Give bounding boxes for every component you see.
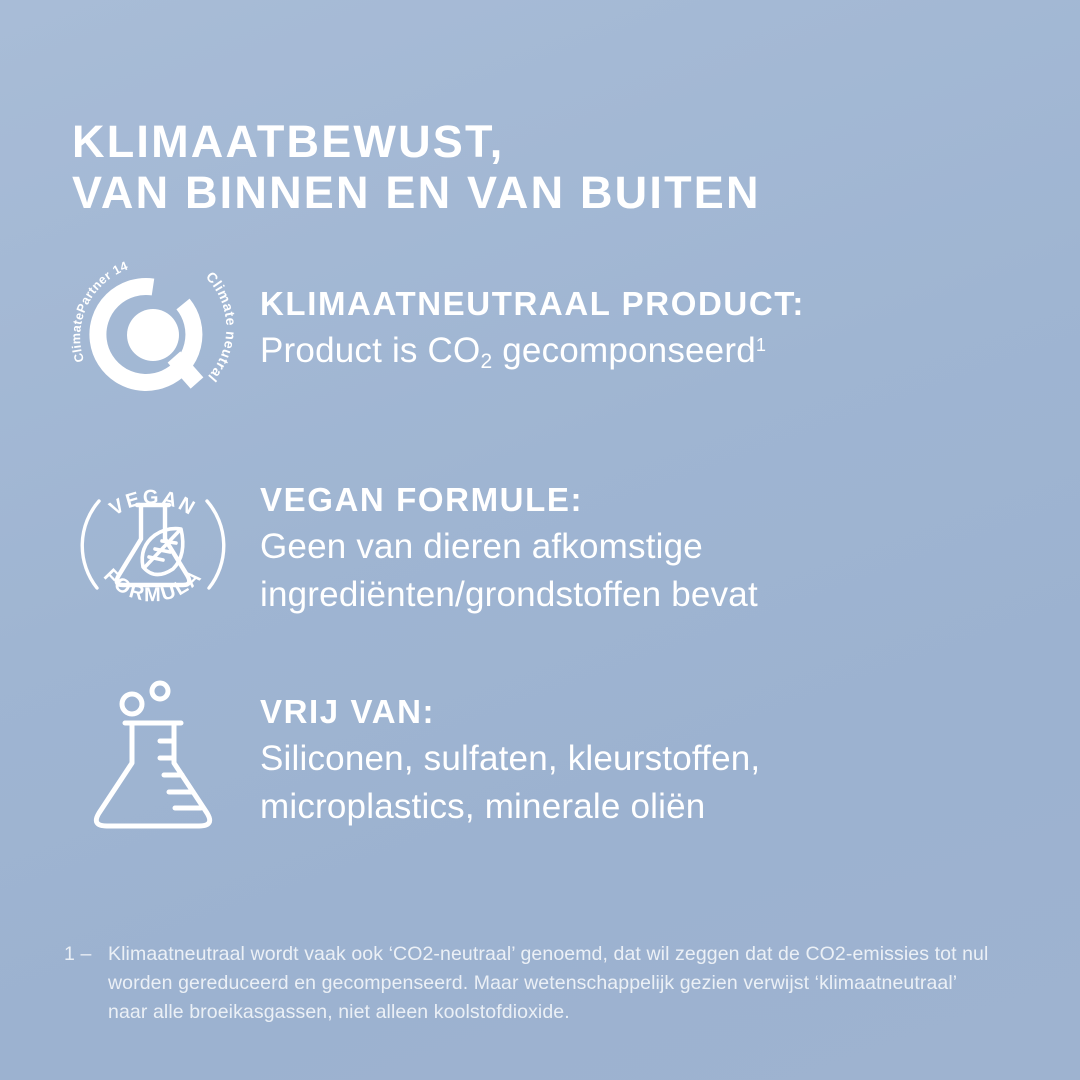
svg-text:Climate neutral: Climate neutral xyxy=(203,268,239,385)
feature-body: Product is CO2 gecomponseerd1 xyxy=(260,327,805,380)
feature-body: Geen van dieren afkomstige ingrediënten/… xyxy=(260,523,758,619)
footnote-ref: 1 xyxy=(756,335,766,355)
feature-free-from: VRIJ VAN: Siliconen, sulfaten, kleurstof… xyxy=(0,660,1080,850)
vegan-arc-label: VEGAN xyxy=(106,486,200,520)
formula-arc-label: FORMULA xyxy=(99,565,207,606)
page-title: KLIMAATBEWUST, VAN BINNEN EN VAN BUITEN xyxy=(72,116,1002,218)
body-line-2: microplastics, minerale oliën xyxy=(260,783,760,831)
vegan-formula-badge-icon: VEGAN FORMULA xyxy=(58,450,248,640)
feature-title: VEGAN FORMULE: xyxy=(260,480,758,520)
feature-title: KLIMAATNEUTRAAL PRODUCT: xyxy=(260,284,805,324)
feature-text-vegan-formula: VEGAN FORMULE: Geen van dieren afkomstig… xyxy=(260,450,758,619)
headline-line-1: KLIMAATBEWUST, xyxy=(72,116,1002,167)
body-line-1: Geen van dieren afkomstige xyxy=(260,523,758,571)
svg-text:FORMULA: FORMULA xyxy=(99,565,207,606)
promo-poster: KLIMAATBEWUST, VAN BINNEN EN VAN BUITEN xyxy=(0,0,1080,1080)
flask-icon xyxy=(58,660,248,850)
footnote-body: Klimaatneutraal wordt vaak ook ‘CO2-neut… xyxy=(108,940,1064,1027)
headline-line-2: VAN BINNEN EN VAN BUITEN xyxy=(72,167,1002,218)
feature-text-free-from: VRIJ VAN: Siliconen, sulfaten, kleurstof… xyxy=(260,660,760,831)
footnote-line-3: naar alle broeikasgassen, niet alleen ko… xyxy=(108,998,1064,1027)
feature-body: Siliconen, sulfaten, kleurstoffen, micro… xyxy=(260,735,760,831)
co2-subscript: 2 xyxy=(480,350,492,373)
feature-climate-neutral: ClimatePartner 14717-2005-1001 Climate n… xyxy=(0,240,1080,430)
feature-title: VRIJ VAN: xyxy=(260,692,760,732)
footnote-line-1: Klimaatneutraal wordt vaak ook ‘CO2-neut… xyxy=(108,940,1064,969)
feature-vegan-formula: VEGAN FORMULA VEGAN FORMULE: Geen van di… xyxy=(0,450,1080,640)
climate-neutral-badge-icon: ClimatePartner 14717-2005-1001 Climate n… xyxy=(58,240,248,430)
body-line-1: Siliconen, sulfaten, kleurstoffen, xyxy=(260,735,760,783)
svg-text:VEGAN: VEGAN xyxy=(106,486,200,520)
body-line-2: ingrediënten/grondstoffen bevat xyxy=(260,571,758,619)
feature-text-climate-neutral: KLIMAATNEUTRAAL PRODUCT: Product is CO2 … xyxy=(260,240,805,380)
footnote-marker: 1 – xyxy=(64,940,108,1027)
body-text-mid: gecomponseerd xyxy=(492,331,756,370)
footnote: 1 – Klimaatneutraal wordt vaak ook ‘CO2-… xyxy=(64,940,1064,1027)
body-text-pre: Product is CO xyxy=(260,331,480,370)
feature-list: ClimatePartner 14717-2005-1001 Climate n… xyxy=(0,240,1080,850)
footnote-line-2: worden gereduceerd en gecompenseerd. Maa… xyxy=(108,969,1064,998)
